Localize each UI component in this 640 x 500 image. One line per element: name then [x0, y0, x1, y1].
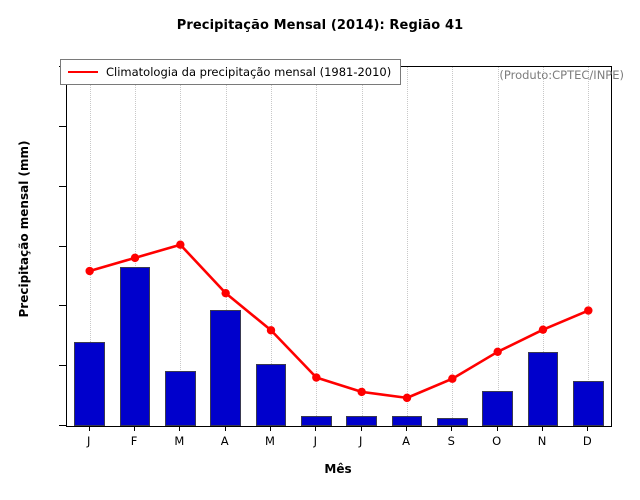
y-tick-mark: [59, 246, 66, 247]
legend-label: Climatologia da precipitação mensal (198…: [106, 65, 391, 79]
data-point-marker: [85, 267, 93, 275]
data-point-marker: [357, 388, 365, 396]
chart-title: Precipitação Mensal (2014): Região 41: [0, 18, 640, 33]
x-tick-label: M: [250, 434, 290, 448]
data-point-marker: [584, 306, 592, 314]
x-tick-label: N: [522, 434, 562, 448]
plot-inner: [67, 67, 611, 426]
y-tick-mark: [59, 305, 66, 306]
plot-area: [66, 66, 612, 427]
produto-annotation: (Produto:CPTEC/INPE): [499, 68, 624, 82]
y-tick-mark: [59, 186, 66, 187]
data-point-marker: [448, 375, 456, 383]
x-tick-label: D: [567, 434, 607, 448]
chart-legend: Climatologia da precipitação mensal (198…: [60, 59, 401, 85]
data-point-marker: [131, 254, 139, 262]
y-axis-title: Precipitação mensal (mm): [17, 99, 31, 359]
y-tick-mark: [59, 365, 66, 366]
x-tick-label: A: [205, 434, 245, 448]
data-point-marker: [267, 326, 275, 334]
x-tick-label: S: [431, 434, 471, 448]
x-tick-label: O: [477, 434, 517, 448]
x-tick-label: M: [159, 434, 199, 448]
x-axis-title: Mês: [66, 462, 610, 476]
data-point-marker: [539, 325, 547, 333]
data-point-marker: [312, 373, 320, 381]
x-tick-label: J: [295, 434, 335, 448]
data-point-marker: [176, 241, 184, 249]
x-tick-label: J: [341, 434, 381, 448]
data-point-marker: [403, 394, 411, 402]
y-tick-mark: [59, 425, 66, 426]
data-point-marker: [493, 348, 501, 356]
chart-figure: Precipitação Mensal (2014): Região 41 Pr…: [0, 0, 640, 500]
x-tick-label: J: [69, 434, 109, 448]
climatology-polyline: [90, 245, 589, 398]
x-tick-label: F: [114, 434, 154, 448]
climatology-markers: [85, 241, 592, 403]
y-tick-mark: [59, 126, 66, 127]
data-point-marker: [221, 289, 229, 297]
legend-line-swatch: [68, 71, 98, 73]
climatology-line-series: [67, 67, 611, 426]
x-tick-label: A: [386, 434, 426, 448]
